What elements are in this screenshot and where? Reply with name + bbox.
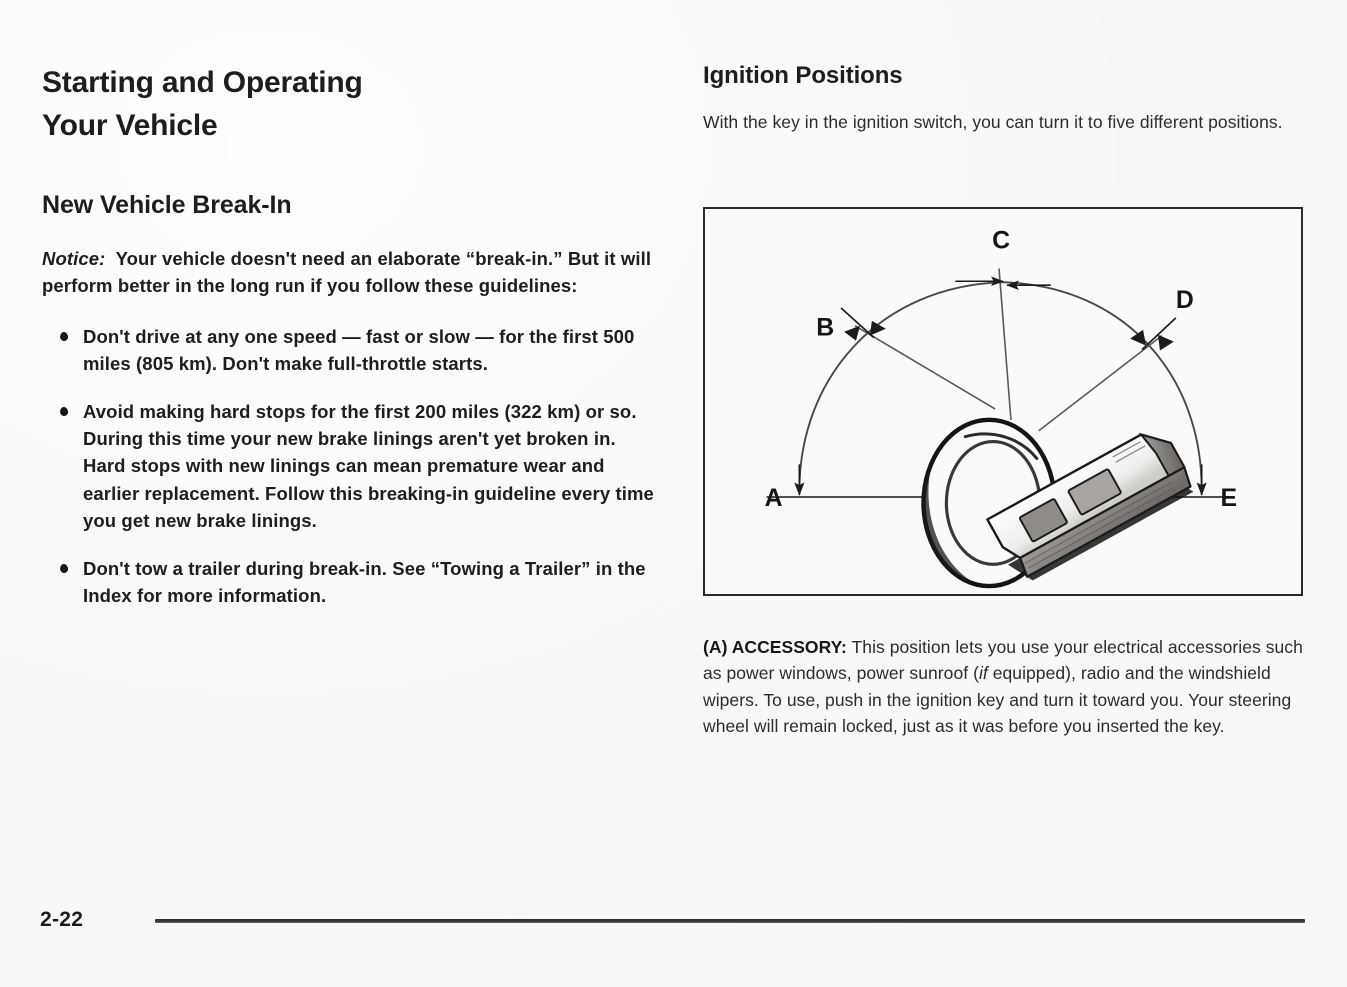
page-number: 2-22	[40, 908, 83, 932]
left-column: Starting and Operating Your Vehicle New …	[42, 62, 662, 609]
page-title-line2: Your Vehicle	[42, 109, 217, 142]
break-in-guidelines-list: Don't drive at any one speed — fast or s…	[42, 323, 662, 610]
accessory-description-block: (A) ACCESSORY: This position lets you us…	[703, 634, 1303, 739]
notice-label: Notice:	[42, 248, 105, 269]
list-item-text: Avoid making hard stops for the first 20…	[83, 401, 654, 531]
diagram-label-b: B	[816, 315, 834, 342]
bullet-icon	[59, 406, 69, 417]
ignition-intro-paragraph: With the key in the ignition switch, you…	[703, 109, 1307, 135]
page-title: Starting and Operating Your Vehicle	[42, 62, 662, 147]
notice-paragraph: Notice: Your vehicle doesn't need an ela…	[42, 245, 662, 299]
position-marker-c	[955, 268, 1050, 419]
page-title-line1: Starting and Operating	[42, 66, 363, 99]
bullet-icon	[59, 563, 69, 574]
ignition-positions-figure: A B C D E	[703, 207, 1303, 596]
list-item-text: Don't tow a trailer during break-in. See…	[83, 558, 646, 606]
accessory-text-italic: if	[979, 663, 988, 683]
diagram-label-d: D	[1176, 287, 1194, 314]
accessory-label: (A) ACCESSORY:	[703, 637, 847, 657]
list-item: Avoid making hard stops for the first 20…	[42, 398, 662, 534]
diagram-label-a: A	[765, 485, 783, 512]
position-marker-d	[1039, 318, 1176, 431]
notice-text: Your vehicle doesn't need an elaborate “…	[42, 248, 651, 296]
ignition-diagram-svg: A B C D E	[705, 209, 1301, 594]
list-item: Don't tow a trailer during break-in. See…	[42, 555, 662, 609]
accessory-paragraph: (A) ACCESSORY: This position lets you us…	[703, 634, 1303, 739]
section-heading-break-in: New Vehicle Break-In	[42, 191, 662, 220]
diagram-label-e: E	[1221, 485, 1238, 512]
bullet-icon	[59, 331, 69, 342]
position-marker-b	[841, 308, 995, 409]
right-column: Ignition Positions With the key in the i…	[703, 62, 1307, 135]
list-item-text: Don't drive at any one speed — fast or s…	[83, 326, 634, 374]
document-page: Starting and Operating Your Vehicle New …	[0, 0, 1347, 987]
footer-rule	[155, 919, 1305, 923]
section-heading-ignition-positions: Ignition Positions	[703, 62, 1307, 90]
diagram-label-c: C	[992, 228, 1010, 255]
list-item: Don't drive at any one speed — fast or s…	[42, 323, 662, 377]
